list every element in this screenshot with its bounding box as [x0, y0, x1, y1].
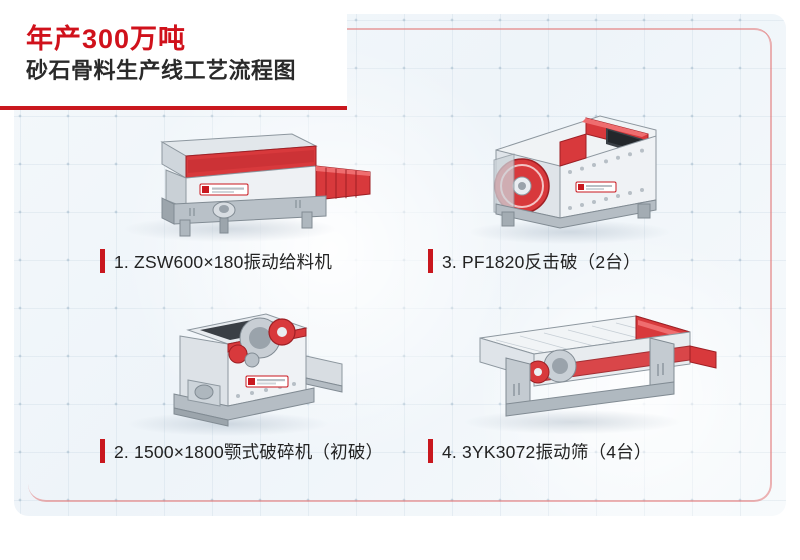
equipment-label-2: 2. 1500×1800颚式破碎机（初破） — [70, 434, 410, 468]
equipment-name-4: 4. 3YK3072振动筛（4台） — [442, 439, 652, 464]
label-accent-bar — [100, 439, 105, 463]
equipment-label-1: 1. ZSW600×180振动给料机 — [70, 244, 410, 278]
impact-crusher-svg — [410, 104, 742, 244]
vibrating-feeder-image — [70, 104, 410, 244]
equipment-name-3: 3. PF1820反击破（2台） — [442, 249, 641, 274]
label-accent-bar — [428, 249, 433, 273]
equipment-grid: 1. ZSW600×180振动给料机 — [70, 104, 742, 486]
equipment-label-4: 4. 3YK3072振动筛（4台） — [410, 434, 742, 468]
vibrating-screen-svg — [410, 294, 742, 434]
label-accent-bar — [100, 249, 105, 273]
equipment-card-2: 2. 1500×1800颚式破碎机（初破） — [70, 294, 410, 484]
equipment-card-3: 3. PF1820反击破（2台） — [410, 104, 742, 294]
vibrating-feeder-svg — [70, 104, 410, 244]
equipment-name-2: 2. 1500×1800颚式破碎机（初破） — [114, 439, 383, 464]
equipment-card-4: 4. 3YK3072振动筛（4台） — [410, 294, 742, 484]
equipment-card-1: 1. ZSW600×180振动给料机 — [70, 104, 410, 294]
jaw-crusher-image — [70, 294, 410, 434]
title-block: 年产300万吨 砂石骨料生产线工艺流程图 — [0, 0, 347, 110]
equipment-label-3: 3. PF1820反击破（2台） — [410, 244, 742, 278]
label-accent-bar — [428, 439, 433, 463]
vibrating-screen-image — [410, 294, 742, 434]
page-title-secondary: 砂石骨料生产线工艺流程图 — [26, 56, 347, 87]
title-underline — [0, 106, 347, 110]
jaw-crusher-svg — [70, 294, 410, 434]
impact-crusher-image — [410, 104, 742, 244]
diagram-root: 年产300万吨 砂石骨料生产线工艺流程图 — [0, 0, 800, 530]
equipment-name-1: 1. ZSW600×180振动给料机 — [114, 249, 332, 274]
page-title-primary: 年产300万吨 — [26, 23, 347, 57]
